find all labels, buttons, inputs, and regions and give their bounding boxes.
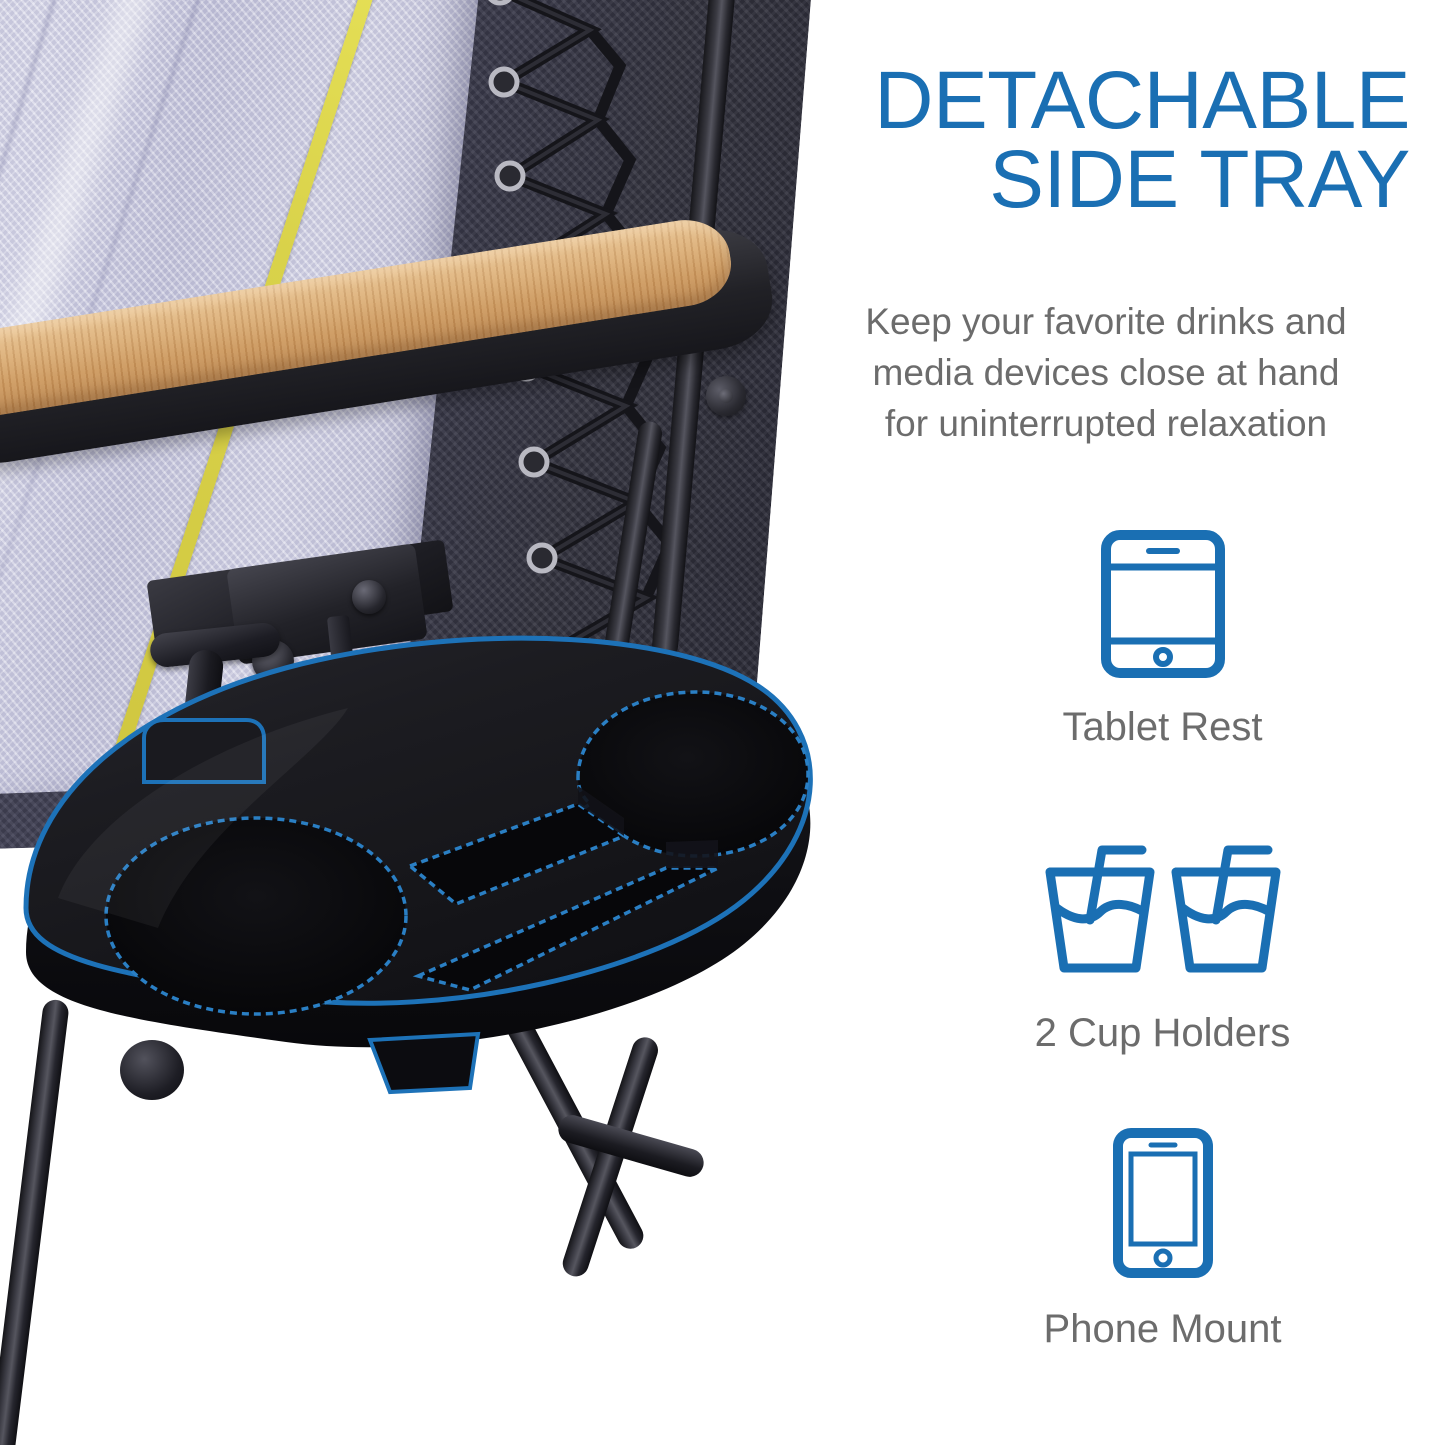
chair-leg (0, 998, 70, 1445)
feature-phone-mount: Phone Mount (880, 1128, 1445, 1352)
feature-label: Tablet Rest (880, 705, 1445, 750)
feature-label: Phone Mount (880, 1307, 1445, 1352)
feature-cup-holders: 2 Cup Holders (880, 842, 1445, 1056)
feature-tablet-rest: Tablet Rest (880, 530, 1445, 750)
marketing-canvas: DETACHABLE SIDE TRAY Keep your favorite … (0, 0, 1445, 1445)
subtitle-description: Keep your favorite drinks and media devi… (780, 296, 1432, 449)
chair-leg-joint (120, 1040, 184, 1100)
tray-underside-tab (370, 1034, 478, 1092)
phone-icon (880, 1128, 1445, 1283)
feature-label: 2 Cup Holders (880, 1011, 1445, 1056)
product-photo (0, 0, 880, 1445)
two-cups-icon (880, 842, 1445, 985)
info-column: DETACHABLE SIDE TRAY Keep your favorite … (880, 0, 1445, 1445)
page-title: DETACHABLE SIDE TRAY (860, 62, 1432, 219)
tablet-icon (880, 530, 1445, 683)
